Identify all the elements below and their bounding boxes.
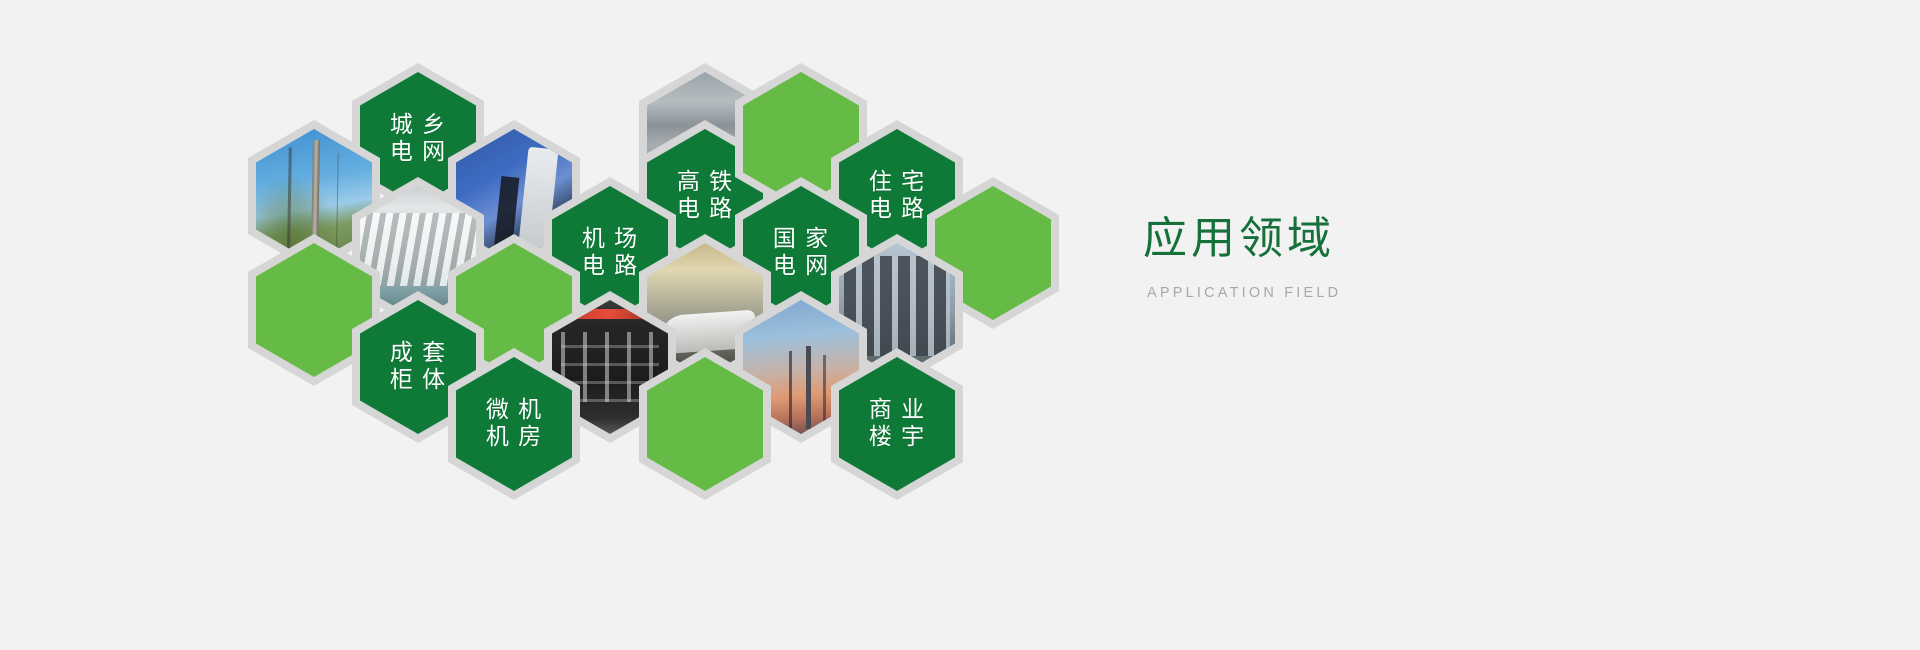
cell-plain-green-bottom-surface [647, 357, 763, 491]
cell-state-grid-label: 国 家电 网 [773, 226, 829, 279]
label-line-2: 机 房 [486, 424, 542, 451]
cell-microcomputer-room-label: 微 机机 房 [486, 397, 542, 450]
label-line-1: 住 宅 [869, 169, 925, 196]
label-line-1: 高 铁 [677, 169, 733, 196]
label-line-2: 楼 宇 [869, 424, 925, 451]
label-line-1: 商 业 [869, 397, 925, 424]
label-line-1: 机 场 [582, 226, 638, 253]
cell-microcomputer-room-surface: 微 机机 房 [456, 357, 572, 491]
label-line-1: 城 乡 [390, 112, 446, 139]
cell-residential-circuit-label: 住 宅电 路 [869, 169, 925, 222]
heading-block: 应用领域 APPLICATION FIELD [1143, 215, 1563, 301]
cell-commercial-building-label: 商 业楼 宇 [869, 397, 925, 450]
application-field-banner: 城 乡电 网高 铁电 路住 宅电 路机 场电 路国 家电 网成 套柜 体微 机机… [0, 0, 1920, 650]
label-line-2: 电 网 [390, 139, 446, 166]
label-line-2: 电 路 [869, 196, 925, 223]
cell-urban-rural-grid-label: 城 乡电 网 [390, 112, 446, 165]
cell-commercial-building-surface: 商 业楼 宇 [839, 357, 955, 491]
cell-airport-circuit-label: 机 场电 路 [582, 226, 638, 279]
label-line-1: 国 家 [773, 226, 829, 253]
page-title: 应用领域 [1143, 215, 1563, 263]
hexagon-grid: 城 乡电 网高 铁电 路住 宅电 路机 场电 路国 家电 网成 套柜 体微 机机… [0, 0, 1120, 650]
cell-complete-cabinet-label: 成 套柜 体 [390, 340, 446, 393]
cell-highspeed-rail-label: 高 铁电 路 [677, 169, 733, 222]
label-line-1: 微 机 [486, 397, 542, 424]
label-line-1: 成 套 [390, 340, 446, 367]
label-line-2: 电 路 [582, 253, 638, 280]
page-subtitle: APPLICATION FIELD [1147, 285, 1563, 301]
label-line-2: 柜 体 [390, 367, 446, 394]
label-line-2: 电 路 [677, 196, 733, 223]
label-line-2: 电 网 [773, 253, 829, 280]
